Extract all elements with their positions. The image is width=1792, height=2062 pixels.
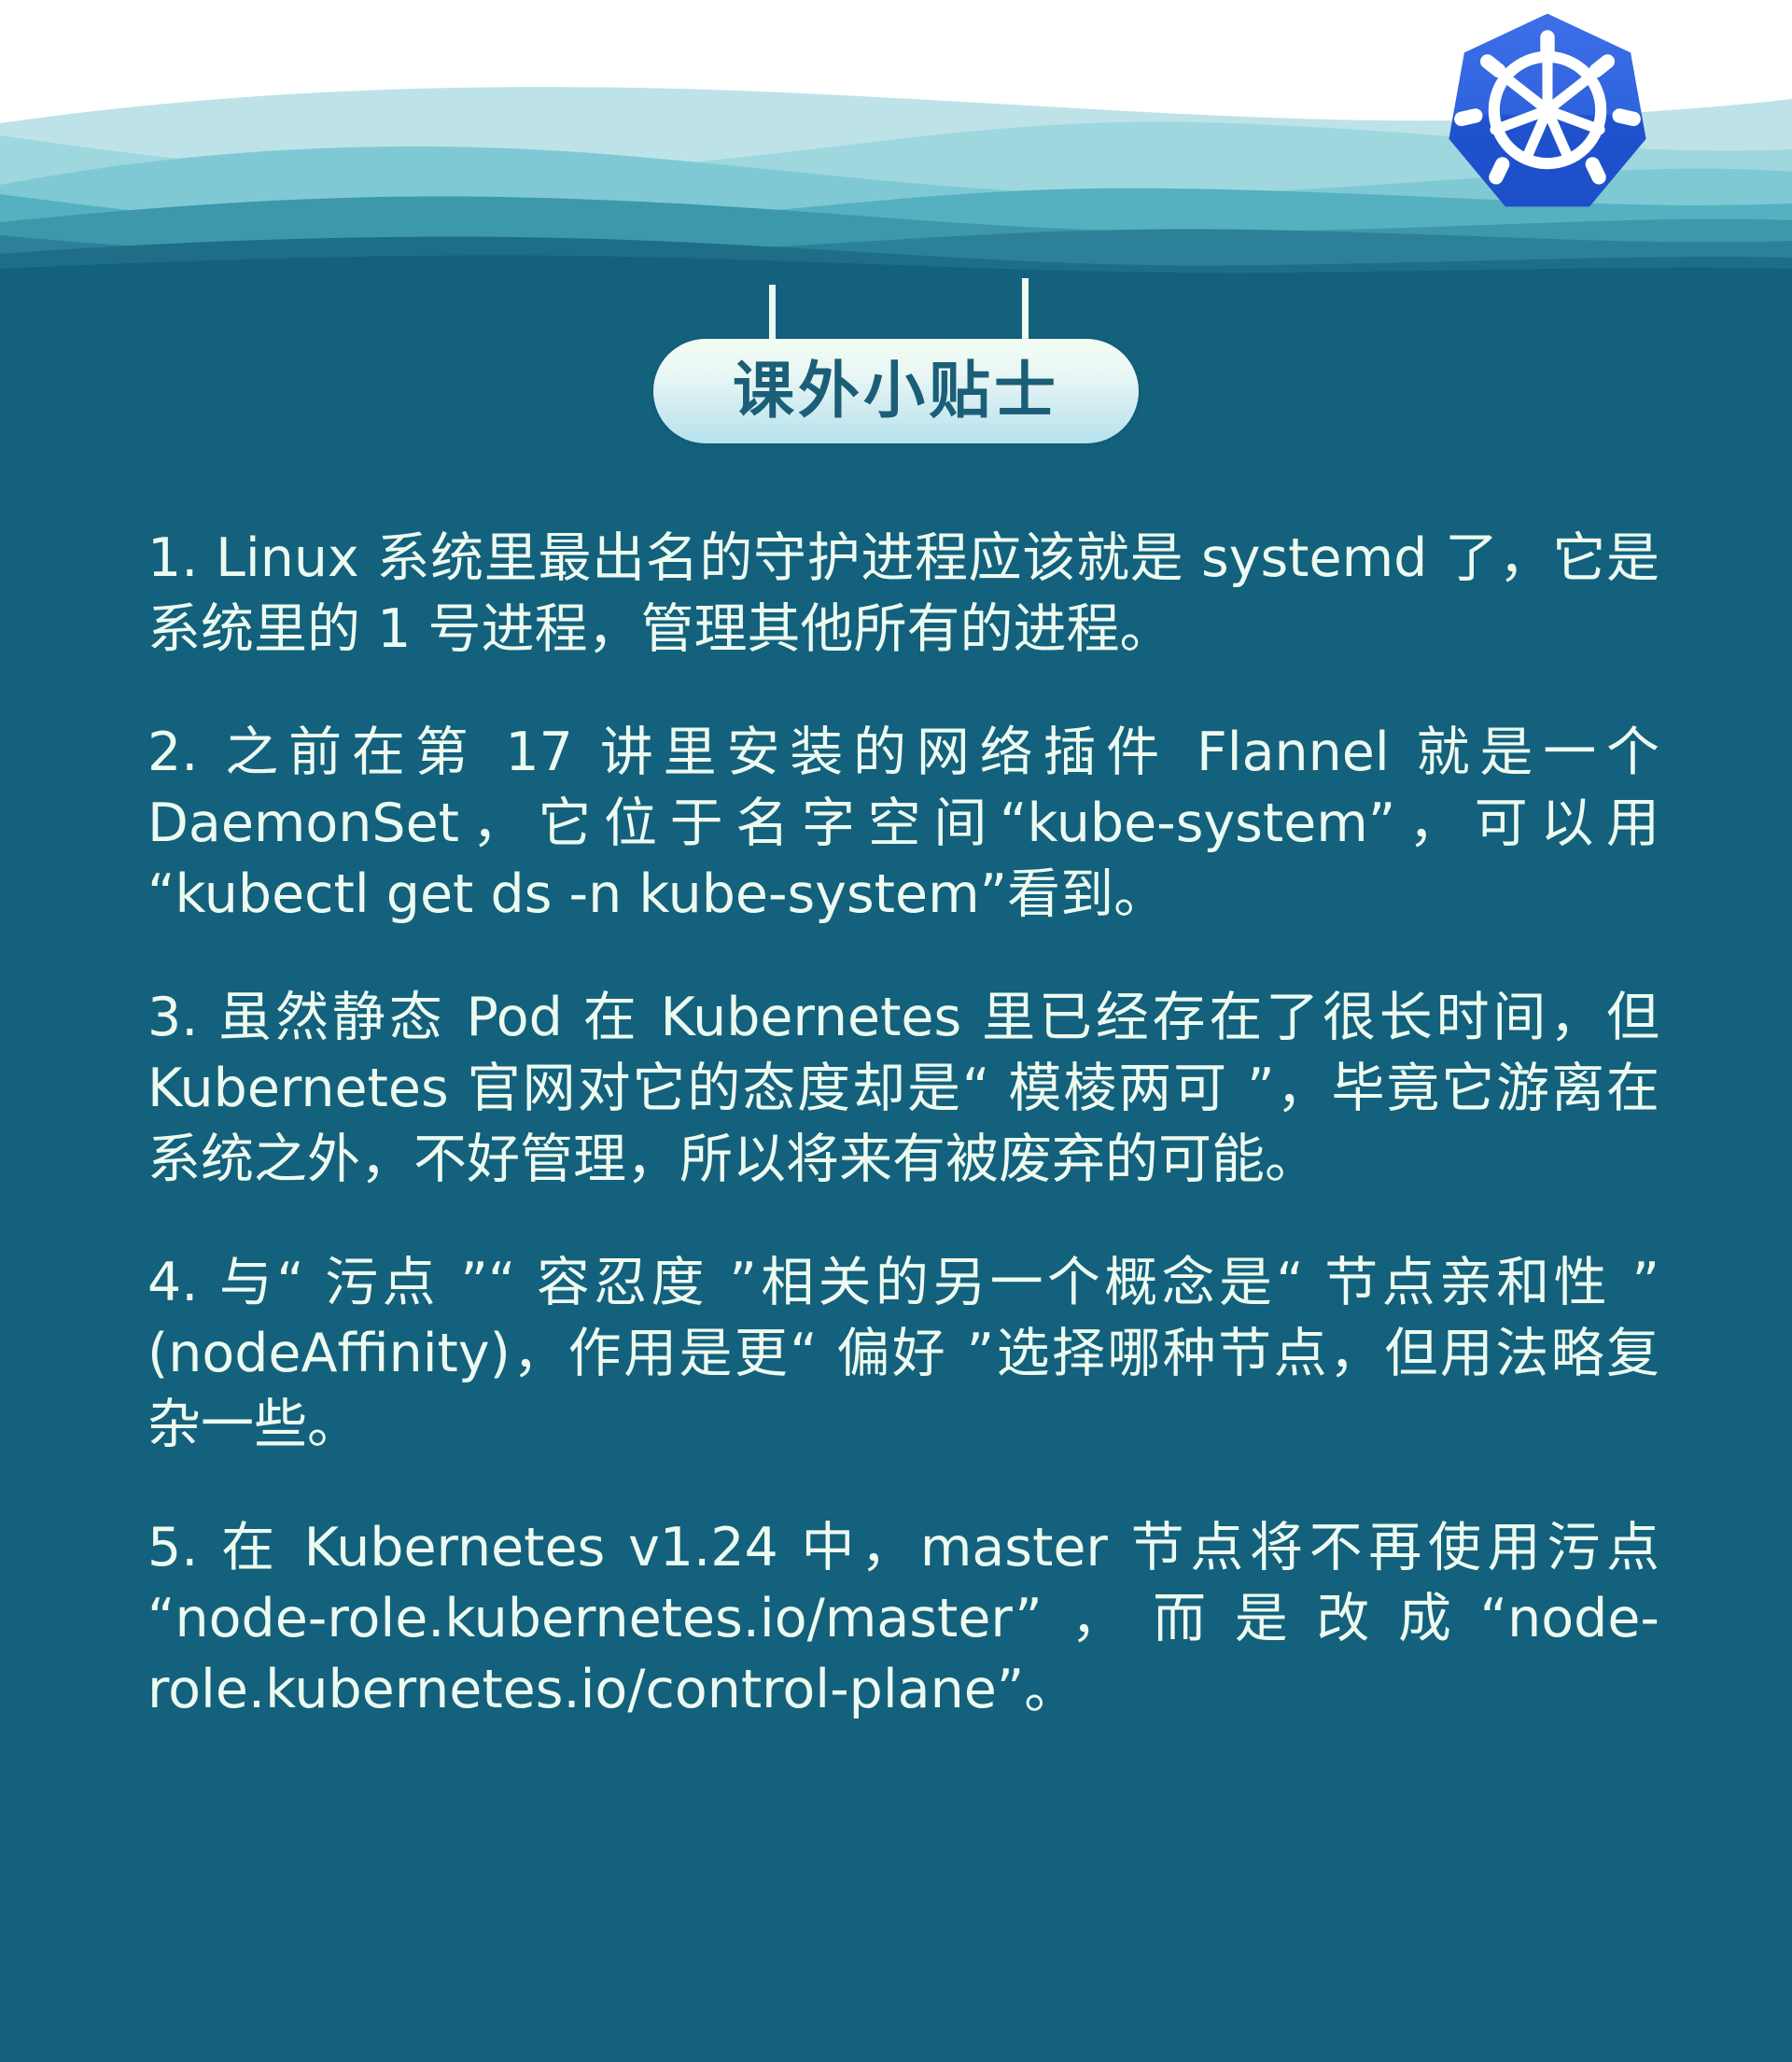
kubernetes-helm-icon [1445, 7, 1650, 213]
tips-list: 1. Linux 系统里最出名的守护进程应该就是 systemd 了，它是系统里… [147, 523, 1659, 1725]
tip-item-2: 2. 之前在第 17 讲里安装的网络插件 Flannel 就是一个 Daemon… [147, 717, 1659, 930]
title-badge: 课外小贴士 [653, 339, 1139, 443]
title-badge-label: 课外小贴士 [733, 360, 1059, 422]
tip-item-1: 1. Linux 系统里最出名的守护进程应该就是 systemd 了，它是系统里… [147, 523, 1659, 665]
tip-item-4: 4. 与“ 污点 ”“ 容忍度 ”相关的另一个概念是“ 节点亲和性 ”(node… [147, 1247, 1659, 1460]
kubernetes-logo [1445, 7, 1650, 213]
tip-item-3: 3. 虽然静态 Pod 在 Kubernetes 里已经存在了很长时间，但 Ku… [147, 982, 1659, 1195]
tip-item-5: 5. 在 Kubernetes v1.24 中，master 节点将不再使用污点… [147, 1512, 1659, 1725]
